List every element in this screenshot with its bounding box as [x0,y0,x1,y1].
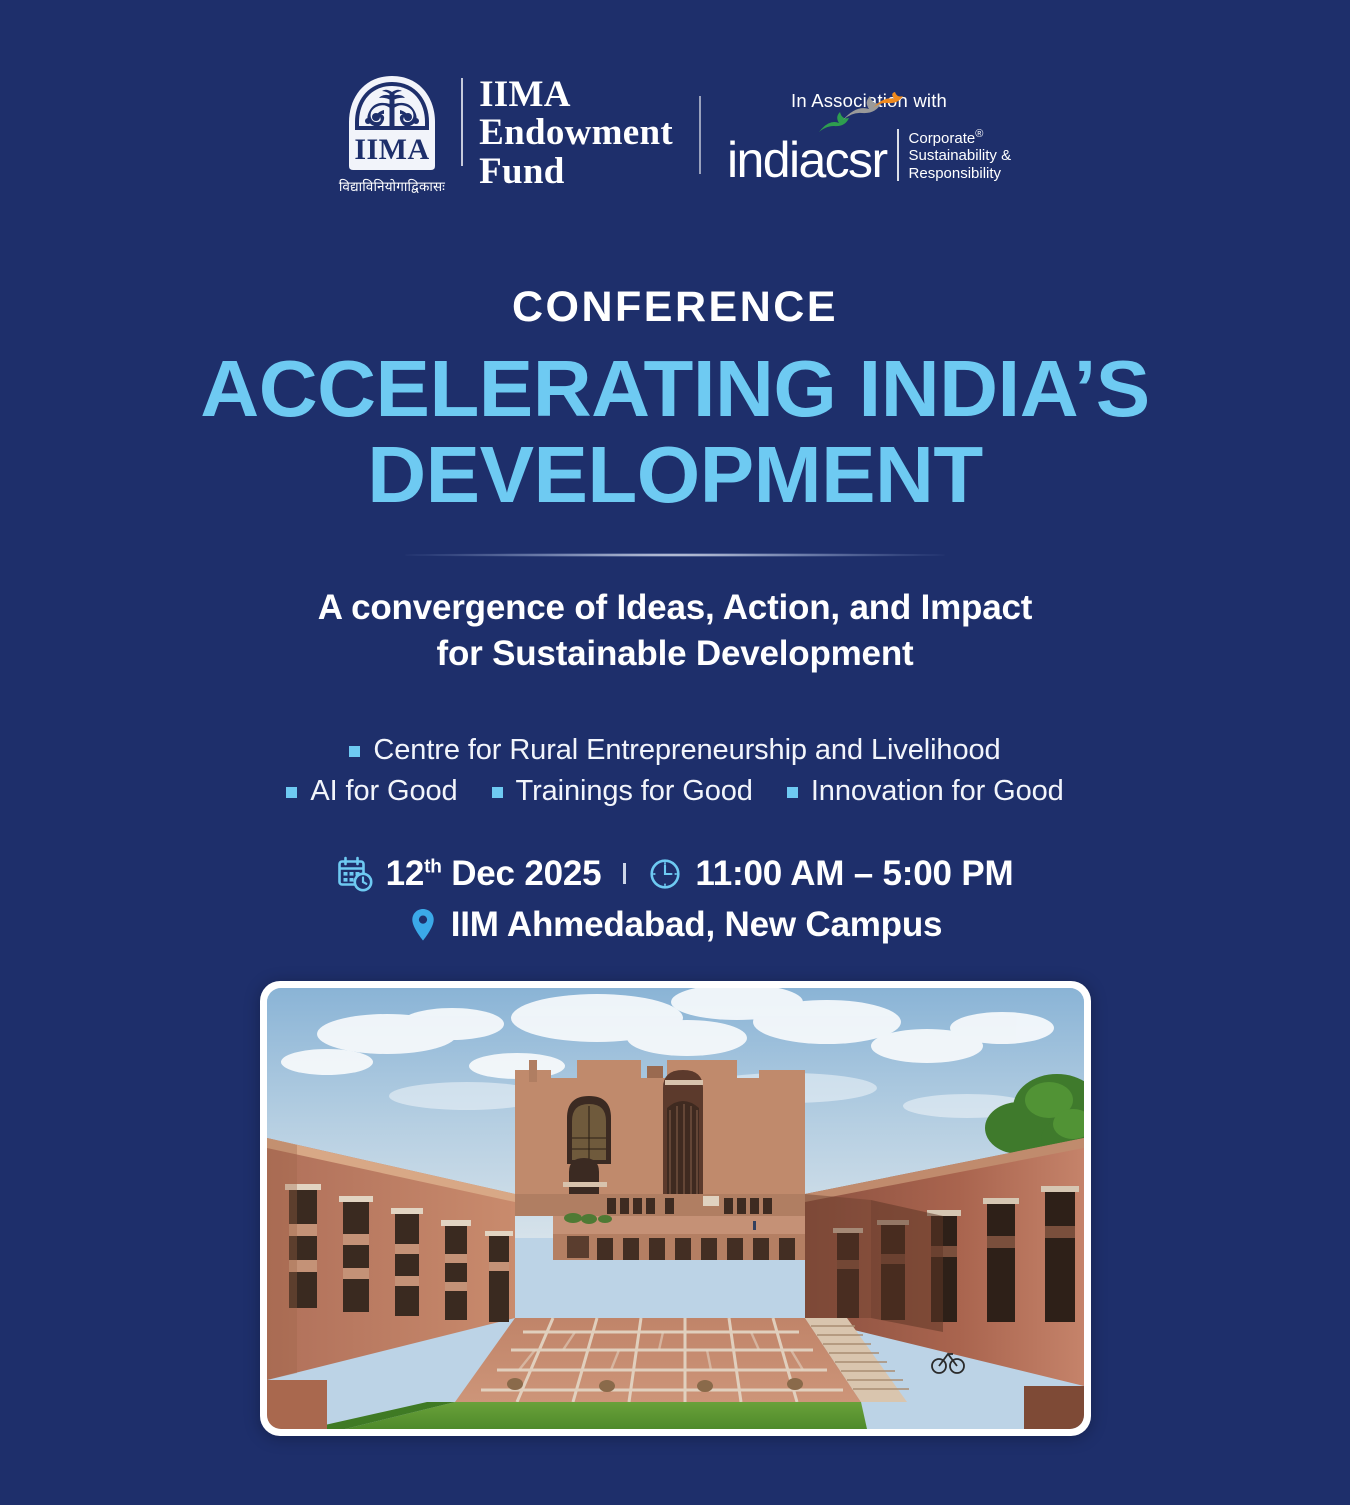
iima-wordmark-line1: IIMA [479,76,673,114]
meta-separator [623,863,626,884]
indiacsr-tagline-line3: Responsibility [909,165,1012,182]
logo-vertical-rule [461,78,463,166]
track-list: Centre for Rural Entrepreneurship and Li… [286,734,1063,808]
logo-bar: IIMA विद्याविनियोगाद्विकासः IIMA Endowme… [339,74,1011,195]
indiacsr-logo: indiacsr Corporate® Sustainability & Res… [727,128,1011,184]
map-pin-icon [408,907,438,943]
clock-icon [648,857,682,891]
track-label: Centre for Rural Entrepreneurship and Li… [373,734,1000,767]
track-item: Innovation for Good [787,775,1064,808]
registered-mark-icon: ® [975,128,983,140]
page-title-line1: ACCELERATING INDIA’S [104,346,1246,432]
iima-sanskrit-tagline: विद्याविनियोगाद्विकासः [339,177,445,195]
iima-wordmark: IIMA Endowment Fund [479,74,673,191]
page-title: ACCELERATING INDIA’S DEVELOPMENT [104,346,1246,517]
date-time-row: 12th Dec 2025 11:00 AM – 5:00 PM [337,854,1014,894]
track-item: AI for Good [286,775,457,808]
conference-poster: IIMA विद्याविनियोगाद्विकासः IIMA Endowme… [0,0,1350,1505]
track-row-2: AI for Good Trainings for Good Innovatio… [286,775,1063,808]
page-subtitle-line1: A convergence of Ideas, Action, and Impa… [225,585,1125,631]
event-details: 12th Dec 2025 11:00 AM – 5:00 PM [337,854,1014,945]
association-divider [699,96,701,174]
square-bullet-icon [787,787,798,798]
indiacsr-wordmark: indiacsr [727,137,887,185]
square-bullet-icon [286,787,297,798]
venue-row: IIM Ahmedabad, New Campus [408,905,943,945]
campus-photo-frame [260,981,1091,1436]
indiacsr-logo-block: In Association with indiacsr Corporate® … [727,74,1011,184]
event-date: 12th Dec 2025 [386,854,602,894]
track-label: Innovation for Good [811,775,1064,808]
square-bullet-icon [492,787,503,798]
event-venue: IIM Ahmedabad, New Campus [451,905,943,945]
track-label: Trainings for Good [516,775,753,808]
indiacsr-tagline: Corporate® Sustainability & Responsibili… [909,128,1012,184]
svg-text:IIMA: IIMA [354,133,429,166]
iim-ahmedabad-louis-kahn-plaza-photo [267,988,1084,1429]
iima-wordmark-line3: Fund [479,153,673,191]
three-birds-icon [813,92,913,138]
track-row-1: Centre for Rural Entrepreneurship and Li… [349,734,1000,767]
track-label: AI for Good [310,775,457,808]
iima-arch-crest-icon: IIMA [340,74,444,172]
indiacsr-tagline-line1: Corporate® [909,128,1012,147]
square-bullet-icon [349,746,360,757]
event-time: 11:00 AM – 5:00 PM [695,854,1013,894]
iima-wordmark-line2: Endowment [479,114,673,152]
conference-kicker: CONFERENCE [512,283,838,332]
page-subtitle: A convergence of Ideas, Action, and Impa… [225,585,1125,677]
track-item: Trainings for Good [492,775,753,808]
page-title-line2: DEVELOPMENT [104,432,1246,518]
glow-divider [405,553,945,557]
page-subtitle-line2: for Sustainable Development [225,631,1125,677]
calendar-clock-icon [337,856,373,892]
iima-crest-wrap: IIMA विद्याविनियोगाद्विकासः [339,74,445,195]
track-item: Centre for Rural Entrepreneurship and Li… [349,734,1000,767]
indiacsr-tagline-line2: Sustainability & [909,147,1012,164]
iima-endowment-fund-logo: IIMA विद्याविनियोगाद्विकासः IIMA Endowme… [339,74,673,195]
